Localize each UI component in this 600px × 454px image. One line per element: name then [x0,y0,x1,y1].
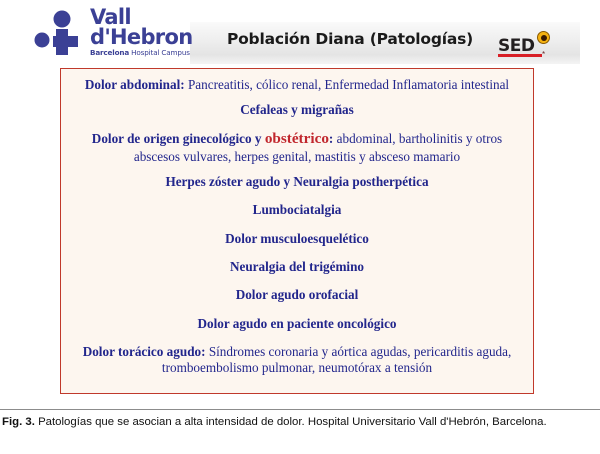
figure-caption: Fig. 3. Patologías que se asocian a alta… [2,415,598,430]
slide-header: Vall d'Hebron Barcelona Hospital Campus … [0,0,600,66]
list-item: Lumbociatalgia [71,202,523,218]
list-item: Neuralgia del trigémino [71,259,523,275]
list-item: Dolor agudo en paciente oncológico [71,316,523,332]
list-item-detail: Síndromes coronaria y aórtica agudas, pe… [162,344,511,375]
sed-underline-bar [498,54,542,57]
hospital-tagline-bold: Barcelona [90,48,129,57]
list-item: Cefaleas y migrañas [71,102,523,118]
hospital-tagline-rest: Hospital Campus [129,48,190,57]
vall-dhebron-logo: Vall d'Hebron Barcelona Hospital Campus [34,8,194,64]
list-item-label: Dolor torácico agudo: [83,344,206,359]
figure-panel: Vall d'Hebron Barcelona Hospital Campus … [0,0,600,404]
hospital-cross-icon [34,10,90,56]
list-item-highlight: obstétrico [265,130,329,147]
list-item: Dolor agudo orofacial [71,287,523,303]
hospital-tagline: Barcelona Hospital Campus [90,48,194,57]
page-title: Población Diana (Patologías) [205,30,495,48]
figure-number: Fig. 3. [2,416,35,428]
list-item: Dolor de origen ginecológico y obstétric… [71,130,523,165]
hospital-wordmark: Vall d'Hebron Barcelona Hospital Campus [90,8,194,57]
list-item: Dolor torácico agudo: Síndromes coronari… [71,344,523,377]
list-item: Herpes zóster agudo y Neuralgia postherp… [71,174,523,190]
pathology-list-box: Dolor abdominal: Pancreatitis, cólico re… [60,68,534,394]
list-item: Dolor musculoesquelético [71,231,523,247]
list-item-label: Dolor abdominal: [85,77,185,92]
hospital-name-line2: d'Hebron [90,28,194,48]
list-item-label-pre: Dolor de origen ginecológico y [92,131,265,146]
sed-wordmark: SED [498,36,534,56]
sed-logo: SED * [498,32,556,62]
sed-circle-core-icon [541,35,547,41]
list-item-detail: Pancreatitis, cólico renal, Enfermedad I… [185,77,509,92]
sed-asterisk-icon: * [542,50,545,59]
figure-caption-text: Patologías que se asocian a alta intensi… [35,416,547,428]
list-item: Dolor abdominal: Pancreatitis, cólico re… [71,77,523,93]
caption-divider [0,409,600,410]
